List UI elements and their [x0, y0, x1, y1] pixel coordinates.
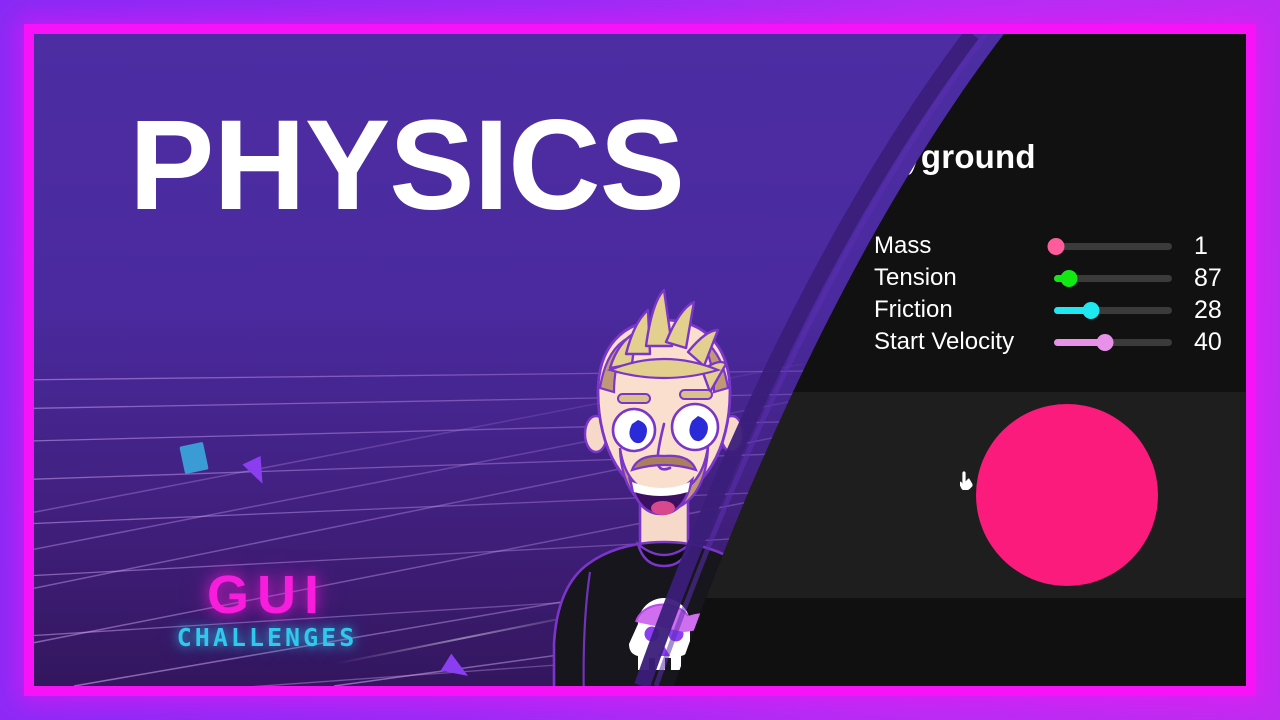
- slider-row-tension: Tension 87: [874, 262, 1236, 294]
- slider-value-friction: 28: [1194, 296, 1236, 325]
- slider-list: Mass 1 Tension: [874, 230, 1236, 358]
- page-title: PHYSICS: [129, 99, 684, 233]
- slider-row-start-velocity: Start Velocity 40: [874, 326, 1236, 358]
- slider-label-friction: Friction: [874, 296, 1054, 324]
- slider-mass[interactable]: [1054, 234, 1172, 258]
- slider-thumb[interactable]: [1096, 334, 1113, 351]
- pointer-hand-cursor: [960, 470, 976, 490]
- presentation-slide: PHYSICS GUI CHALLENGES Playground Mass: [34, 34, 1246, 686]
- screenshot-stage: PHYSICS GUI CHALLENGES Playground Mass: [0, 0, 1280, 720]
- slider-label-tension: Tension: [874, 264, 1054, 292]
- slider-value-mass: 1: [1194, 232, 1236, 261]
- app-footer-area: [674, 598, 1246, 686]
- slider-thumb[interactable]: [1082, 302, 1099, 319]
- slider-value-tension: 87: [1194, 264, 1236, 293]
- slider-friction[interactable]: [1054, 298, 1172, 322]
- gui-challenges-logo: GUI CHALLENGES: [152, 570, 382, 653]
- slider-label-mass: Mass: [874, 232, 1054, 260]
- slider-start-velocity[interactable]: [1054, 330, 1172, 354]
- draggable-ball[interactable]: [976, 404, 1158, 586]
- logo-secondary-text: CHALLENGES: [152, 623, 382, 653]
- slider-thumb[interactable]: [1061, 270, 1078, 287]
- slider-label-start-velocity: Start Velocity: [874, 328, 1054, 356]
- slider-thumb[interactable]: [1048, 238, 1065, 255]
- slider-track: [1054, 243, 1172, 250]
- logo-primary-text: GUI: [152, 570, 382, 621]
- slider-row-mass: Mass 1: [874, 230, 1236, 262]
- slider-row-friction: Friction 28: [874, 294, 1236, 326]
- slider-tension[interactable]: [1054, 266, 1172, 290]
- slider-value-start-velocity: 40: [1194, 328, 1236, 357]
